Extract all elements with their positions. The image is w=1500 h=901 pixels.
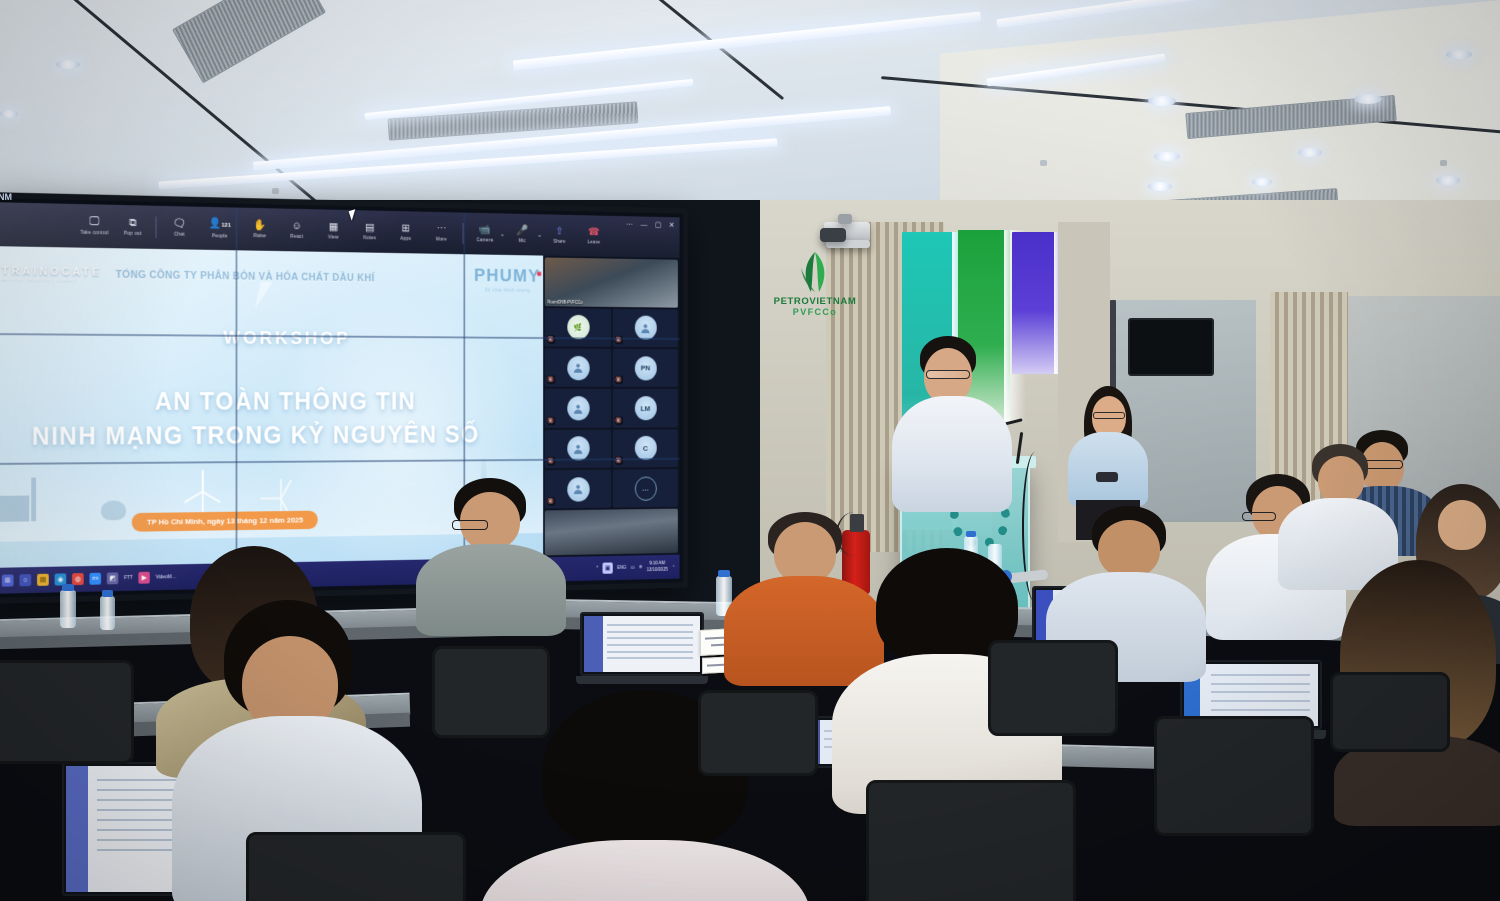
- petrovietnam-logo-text: PETROVIETNAM: [760, 296, 870, 307]
- water-bottle-4-cap: [966, 531, 976, 537]
- chair-7: [1330, 672, 1450, 752]
- pvfcco-logo-text: PVFCCo: [760, 307, 870, 317]
- window-restore-icon[interactable]: ▢: [655, 221, 661, 229]
- mic-muted-icon: 🔇: [615, 457, 623, 465]
- toolbar-divider-2: [463, 223, 464, 244]
- hang-up-icon: ☎: [588, 227, 600, 238]
- roster-room-video-tile[interactable]: RoomDNB-PVFCCo: [545, 257, 678, 307]
- window-close-icon[interactable]: ✕: [669, 221, 675, 229]
- avatar-initials: C: [634, 436, 656, 460]
- microphone-icon: 🎤: [516, 225, 528, 237]
- sprinkler-head-3: [272, 188, 279, 194]
- downlight-4: [1154, 152, 1180, 161]
- speaker-male: [888, 336, 1018, 516]
- chair-8: [698, 690, 818, 776]
- raise-hand-button[interactable]: ✋ Raise: [241, 219, 278, 239]
- camera-label: Camera: [476, 237, 493, 243]
- petrovietnam-logo: PETROVIETNAM PVFCCo: [760, 250, 870, 317]
- settings-icon[interactable]: ✲: [639, 565, 643, 571]
- presenter-female-shirt: [1068, 432, 1148, 506]
- laptop-1[interactable]: [576, 612, 708, 690]
- chair-4: [1154, 716, 1314, 836]
- video-wall-display[interactable]: 🖵 Take control ⧉ Pop out 🗨 Chat 👤121 Peo…: [0, 192, 688, 604]
- mic-muted-icon: 🔇: [547, 376, 555, 384]
- camera-icon: 📹: [479, 224, 491, 236]
- laptop-1-app-window: [584, 616, 700, 672]
- mic-muted-icon: 🔇: [547, 457, 555, 465]
- speaker-male-shirt: [892, 396, 1012, 512]
- presenter-female-glasses-icon: [1093, 412, 1125, 419]
- mic-muted-icon: 🔇: [547, 416, 555, 424]
- avatar-person-icon: [634, 316, 656, 340]
- slide-date-pill: TP Hồ Chí Minh, ngày 13 tháng 12 năm 202…: [132, 511, 318, 532]
- chat-button[interactable]: 🗨 Chat: [160, 218, 198, 238]
- slide-title-line2: AN TOÀN THÔNG TIN: [0, 388, 560, 417]
- leave-label: Leave: [588, 240, 601, 246]
- slide-plant-block: [0, 496, 29, 522]
- audience-9-shirt: [480, 840, 810, 901]
- search-icon[interactable]: ○: [19, 574, 31, 586]
- roster-tile-c[interactable]: C 🔇: [613, 429, 678, 468]
- ceiling-led-strip-1: [513, 11, 981, 70]
- mic-muted-icon: 🔇: [615, 336, 623, 344]
- downlight-9: [1436, 176, 1460, 185]
- audience-6-head: [1438, 500, 1486, 550]
- view-button[interactable]: ▦ View: [315, 221, 351, 241]
- roster-tile-7[interactable]: 🔇: [545, 429, 611, 468]
- downlight-10: [1252, 178, 1272, 186]
- chair-5: [866, 780, 1076, 901]
- file-explorer-icon[interactable]: ▤: [37, 574, 49, 586]
- audience-2-head: [774, 522, 836, 584]
- chrome-browser-icon[interactable]: ◍: [72, 573, 84, 585]
- roster-row-4: 🔇 C 🔇: [545, 429, 678, 468]
- apps-button[interactable]: ⊞ Apps: [388, 222, 424, 242]
- mic-muted-icon: 🔇: [547, 335, 555, 343]
- audience-1-shirt: [416, 544, 566, 636]
- chair-1: [432, 646, 550, 738]
- roster-row-3: 🔇 LM 🔇: [545, 389, 678, 428]
- react-emoji-icon: ☺: [292, 220, 302, 232]
- slide-org-name: TỔNG CÔNG TY PHÂN BÓN VÀ HÓA CHẤT DẦU KH…: [116, 269, 375, 284]
- downlight-1: [56, 60, 80, 69]
- audience-3-head: [1098, 520, 1160, 578]
- chair-2: [0, 660, 134, 764]
- participant-count-badge: 121: [222, 223, 231, 229]
- notes-button[interactable]: ▤ Notes: [352, 222, 388, 242]
- show-hidden-icon[interactable]: ^: [596, 566, 598, 572]
- avatar-initials: LM: [634, 396, 656, 420]
- mic-label: Mic: [519, 238, 526, 244]
- roster-tile-3[interactable]: 🔇: [545, 348, 611, 387]
- phumy-logo-text: PHUMY: [474, 266, 541, 287]
- avatar-person-icon: [567, 477, 589, 502]
- downlight-7: [1148, 182, 1172, 191]
- notification-icon[interactable]: ◔: [672, 564, 675, 570]
- raise-label: Raise: [253, 233, 266, 239]
- roster-tile-overflow[interactable]: …: [613, 469, 678, 508]
- phumy-logo-dot-icon: [537, 271, 541, 276]
- roster-tile-lm[interactable]: LM 🔇: [613, 389, 678, 427]
- zoom-app-icon[interactable]: zm: [89, 573, 101, 585]
- roster-tile-pn[interactable]: PN 🔇: [613, 349, 678, 387]
- apps-label: Apps: [400, 236, 411, 242]
- water-bottle-1-cap: [62, 584, 74, 591]
- petrovietnam-leaf-icon: [795, 250, 835, 294]
- more-button[interactable]: ⋯ More: [424, 223, 460, 243]
- water-bottle-2-cap: [102, 590, 113, 597]
- downlight-3: [1148, 96, 1176, 106]
- slide-tree: [101, 500, 126, 520]
- avatar-person-icon: [567, 437, 589, 461]
- laptop-1-screen[interactable]: [580, 612, 704, 676]
- phumy-tagline: Sẻ chia thịnh vượng: [474, 287, 541, 293]
- language-indicator[interactable]: ENG: [617, 565, 626, 571]
- screen-edge-label: NM: [0, 192, 12, 202]
- ceiling: [0, 0, 1500, 215]
- presenter-clicker-device: [1096, 472, 1118, 482]
- speaker-male-glasses-icon: [926, 370, 970, 379]
- react-button[interactable]: ☺ React: [278, 220, 315, 240]
- notes-label: Notes: [363, 235, 376, 241]
- take-control-label: Take control: [80, 230, 108, 236]
- roster-tile-5[interactable]: 🔇: [545, 389, 611, 428]
- avatar-person-icon: [567, 396, 589, 420]
- view-grid-icon: ▦: [329, 221, 338, 233]
- more-label: More: [436, 237, 447, 243]
- downlight-6: [1446, 50, 1472, 59]
- downlight-2: [0, 110, 18, 118]
- phumy-logo: PHUMY Sẻ chia thịnh vượng: [474, 266, 541, 293]
- people-button[interactable]: 👤121 People: [198, 217, 241, 239]
- more-dots-icon: ⋯: [437, 223, 447, 235]
- chat-label: Chat: [174, 232, 185, 238]
- share-screen-icon: ⇧: [555, 226, 563, 237]
- share-label: Share: [553, 239, 565, 245]
- mic-button[interactable]: 🎤 Mic: [505, 225, 540, 244]
- teams-app-icon[interactable]: ◩: [107, 572, 119, 584]
- avatar-initials: PN: [634, 356, 656, 380]
- mic-muted-icon: 🔇: [615, 376, 623, 384]
- downlight-5: [1354, 94, 1382, 104]
- screen-share-icon: 🖵: [89, 216, 99, 228]
- pop-out-label: Pop out: [124, 231, 142, 237]
- trainocate-tagline: Advance | Educate | Connect: [2, 277, 103, 282]
- teams-tray-icon[interactable]: ▣: [603, 562, 613, 573]
- slide-title-block: WORKSHOP AN TOÀN THÔNG TIN NINH MẠNG TRO…: [0, 326, 560, 452]
- laptop-1-base[interactable]: [576, 676, 708, 684]
- wall-camera: [820, 228, 846, 242]
- start-icon[interactable]: ⊞: [2, 574, 14, 586]
- taskbar-label-ftt[interactable]: FTT: [124, 575, 133, 581]
- taskbar-tray[interactable]: ^ ▣ ENG ▭ ✲ 9:10 AM 13/10/2025 ◔: [596, 560, 674, 575]
- sprinkler-head-1: [1040, 160, 1047, 166]
- avatar-overflow-icon: …: [634, 476, 656, 500]
- window-controls[interactable]: ⋯ — ▢ ✕: [626, 220, 674, 229]
- sprinkler-head-2: [1440, 160, 1447, 166]
- ceiling-led-strip-5: [996, 0, 1215, 28]
- people-label: People: [212, 233, 228, 239]
- audience-1: [416, 478, 566, 628]
- slide-title-line1: WORKSHOP: [0, 326, 560, 351]
- notes-icon: ▤: [365, 222, 374, 234]
- water-bottle-1: [60, 590, 76, 628]
- audience-5-head: [1318, 456, 1364, 504]
- roster-row-1: 🌿 🔇 🔇: [545, 308, 678, 348]
- downlight-8: [1298, 148, 1322, 157]
- taskbar-clock[interactable]: 9:10 AM 13/10/2025: [647, 560, 668, 573]
- ac-vent-1: [172, 0, 326, 83]
- clock-date: 13/10/2025: [647, 567, 668, 574]
- pop-out-icon: ⧉: [129, 217, 137, 229]
- roster-tile-2[interactable]: 🔇: [613, 309, 678, 348]
- accent-panel-purple: [1012, 232, 1060, 374]
- people-icon: 👤121: [209, 218, 231, 232]
- take-control-button[interactable]: 🖵 Take control: [75, 216, 114, 237]
- mic-muted-icon: 🔇: [615, 416, 623, 424]
- pop-out-button[interactable]: ⧉ Pop out: [114, 217, 152, 237]
- view-label: View: [328, 235, 339, 241]
- rear-wall-monitor: [1128, 318, 1214, 376]
- window-minimize-icon[interactable]: —: [641, 220, 648, 228]
- camera-button[interactable]: 📹 Camera: [467, 224, 502, 244]
- toolbar-divider-1: [156, 217, 157, 239]
- apps-plus-icon: ⊞: [402, 223, 410, 235]
- window-more-dots-icon[interactable]: ⋯: [626, 220, 633, 228]
- conference-room-scene: PETROVIETNAM PVFCCo 🖵 Take control ⧉ Pop…: [0, 0, 1500, 901]
- avatar-company-logo-icon: 🌿: [567, 315, 589, 339]
- audience-4-glasses-icon: [1242, 512, 1276, 521]
- projector-mount: [838, 214, 852, 224]
- video-app-icon[interactable]: ▶: [139, 572, 150, 584]
- raise-hand-icon: ✋: [253, 220, 266, 232]
- water-bottle-2: [100, 596, 115, 630]
- react-label: React: [290, 234, 303, 240]
- roster-tile-logo[interactable]: 🌿 🔇: [545, 308, 611, 347]
- chair-6: [246, 832, 466, 901]
- leave-button[interactable]: ☎ Leave: [577, 226, 611, 245]
- avatar-person-icon: [567, 356, 589, 380]
- roster-row-2: 🔇 PN 🔇: [545, 348, 678, 387]
- chat-icon: 🗨: [173, 218, 186, 230]
- slide-smokestack: [31, 478, 36, 522]
- chair-3: [988, 640, 1118, 736]
- roster-room-tile-name: RoomDNB-PVFCCo: [547, 299, 582, 304]
- trainocate-logo: TRAINOCATE Advance | Educate | Connect: [2, 265, 103, 282]
- display-icon[interactable]: ▭: [631, 565, 635, 571]
- audience-1-glasses-icon: [452, 520, 488, 530]
- share-button[interactable]: ⇧ Share: [542, 226, 577, 245]
